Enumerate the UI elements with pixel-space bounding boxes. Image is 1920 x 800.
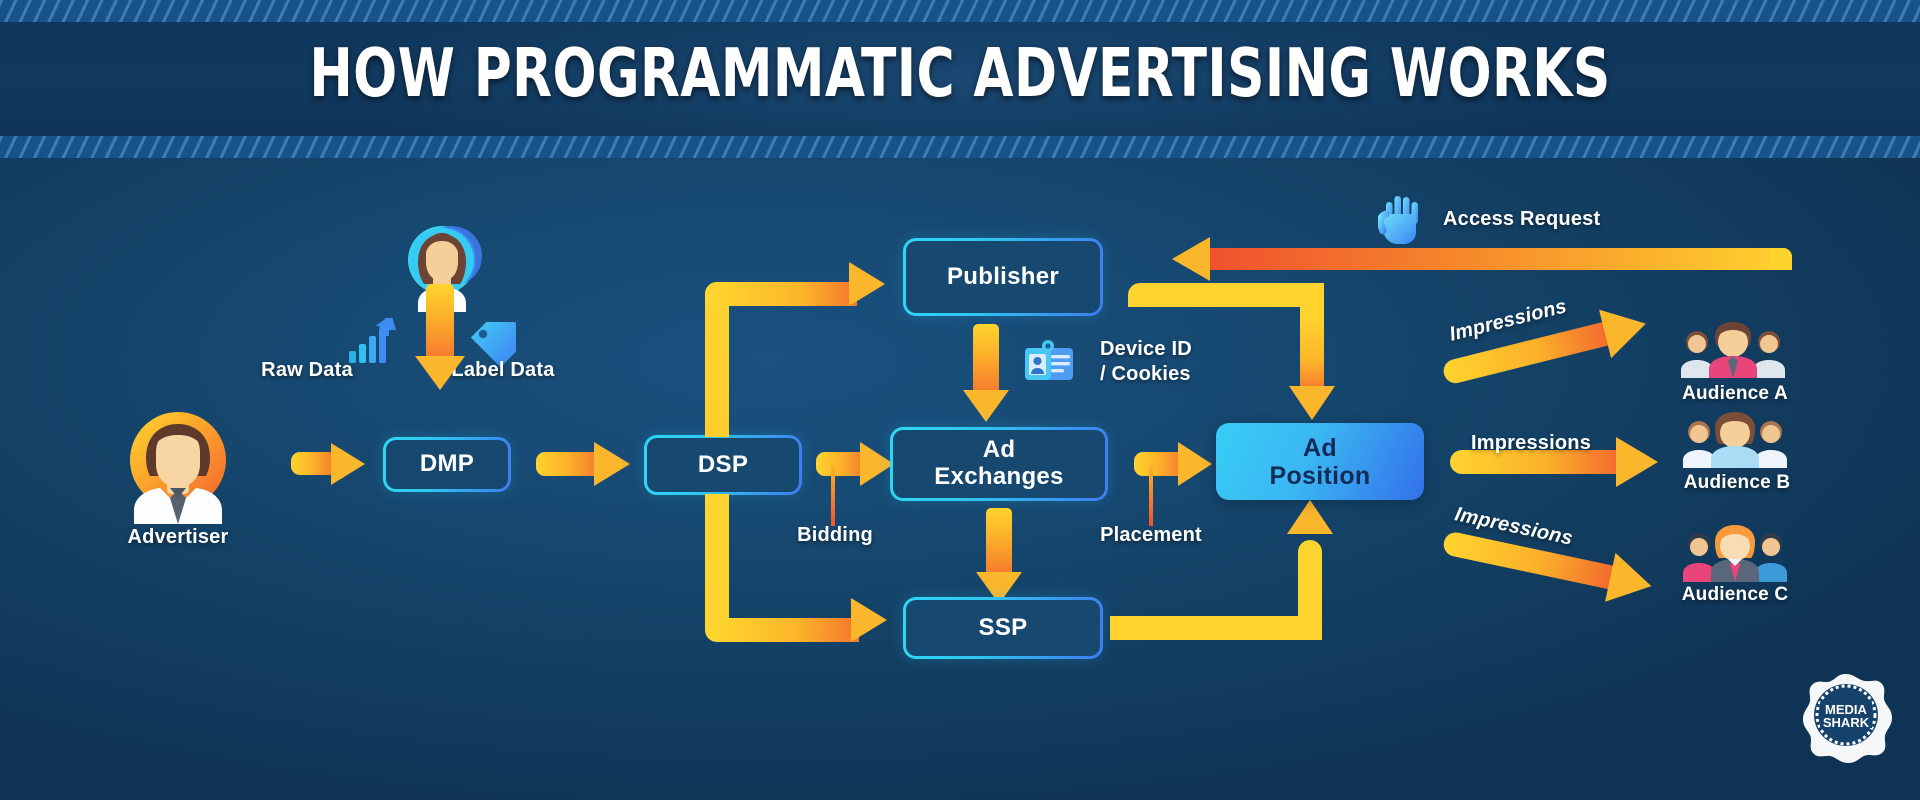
arrow-publisher-to-adexchanges [973,324,999,430]
impressions-b-label: Impressions [1471,432,1591,455]
audience-c-icon [1677,524,1793,582]
audience-c-label: Audience C [1661,584,1809,606]
placement-stem [1149,464,1153,526]
node-dsp[interactable]: DSP [644,435,802,495]
device-id-line1: Device ID / Cookies [1100,338,1192,385]
bidding-label: Bidding [762,524,908,547]
arrow-placement [1134,452,1222,476]
node-publisher[interactable]: Publisher [903,238,1103,316]
hatch-stripe-top [0,0,1920,22]
bar-chart-growth-icon [348,318,398,364]
arrow-dmp-to-dsp [536,452,634,476]
page-title: HOW PROGRAMMATIC ADVERTISING WORKS [134,34,1785,112]
audience-a-label: Audience A [1661,383,1809,405]
node-ad-exchanges[interactable]: Ad Exchanges [890,427,1108,501]
device-id-cookies-label: Device ID / Cookies [1100,337,1192,387]
arrow-access-request [1172,248,1792,270]
node-dmp-label: DMP [420,451,474,478]
audience-b-label: Audience B [1663,472,1811,494]
node-ssp[interactable]: SSP [903,597,1103,659]
header-banner: HOW PROGRAMMATIC ADVERTISING WORKS [0,0,1920,158]
bidding-stem [831,464,835,526]
access-request-corner [1770,248,1792,270]
node-publisher-label: Publisher [947,264,1059,291]
access-request-label: Access Request [1443,208,1600,231]
brand-logo[interactable]: MEDIA SHARK [1800,672,1892,764]
raised-hand-icon [1378,194,1426,246]
arrow-advertiser-to-dmp [291,452,365,475]
id-card-icon [1022,338,1076,384]
audience-a-icon [1675,322,1791,378]
hatch-stripe-bottom [0,136,1920,158]
brand-line2: SHARK [1823,715,1870,730]
node-ad-position-label: Ad Position [1269,434,1370,490]
arrow-provider-to-dmp [426,284,454,398]
raw-data-label: Raw Data [222,359,392,382]
placement-label: Placement [1073,524,1229,547]
node-ssp-label: SSP [979,615,1028,642]
node-ad-exchanges-label: Ad Exchanges [934,437,1063,491]
node-dsp-label: DSP [698,452,748,479]
node-ad-position[interactable]: Ad Position [1216,423,1424,500]
advertiser-avatar [108,412,248,524]
infographic-canvas: HOW PROGRAMMATIC ADVERTISING WORKS Raw D… [0,0,1920,800]
node-dmp[interactable]: DMP [383,437,511,492]
arrow-impressions-a [1444,340,1670,408]
audience-b-icon [1677,412,1793,468]
advertiser-label: Advertiser [68,526,288,549]
